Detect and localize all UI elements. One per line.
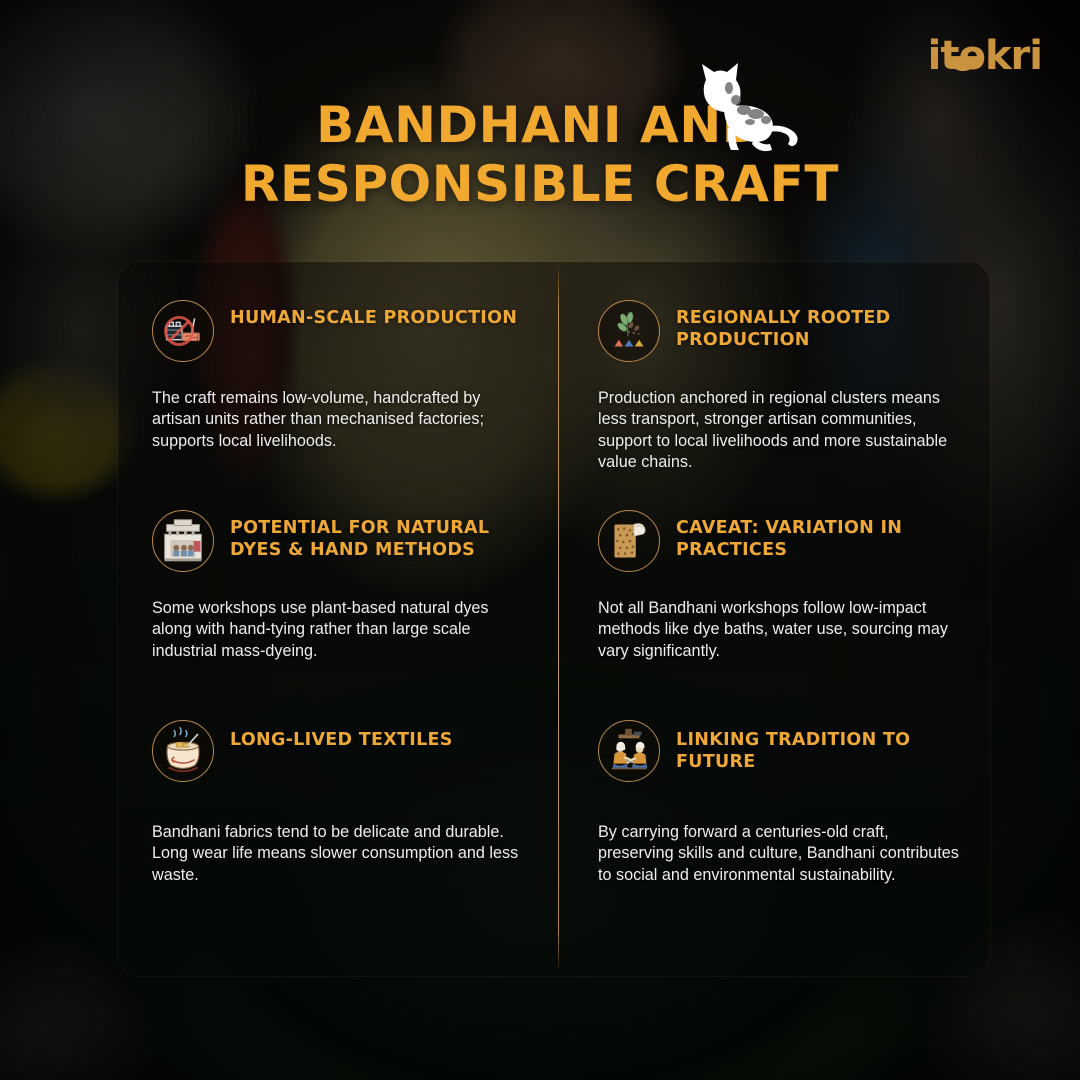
feature-description: The craft remains low-volume, handcrafte… xyxy=(152,388,524,452)
feature-description: Production anchored in regional clusters… xyxy=(598,388,966,474)
feature-header: CAVEAT: VARIATION IN PRACTICES xyxy=(598,510,966,572)
infographic-poster: itokri BANDHANI AND RESPONSIBLE CRAFT xyxy=(0,0,1080,1080)
white-cat-illustration-icon xyxy=(684,58,804,158)
hand-holding-bandhani-fabric-icon xyxy=(598,510,660,572)
plant-dye-pigments-icon xyxy=(598,300,660,362)
feature-title: LINKING TRADITION TO FUTURE xyxy=(676,720,966,774)
page-title: BANDHANI AND RESPONSIBLE CRAFT xyxy=(0,96,1080,213)
feature-header: POTENTIAL FOR NATURAL DYES & HAND METHOD… xyxy=(152,510,524,572)
feature-item-regionally-rooted-production: REGIONALLY ROOTED PRODUCTION Production … xyxy=(558,262,990,472)
feature-item-linking-tradition-to-future: LINKING TRADITION TO FUTURE By carrying … xyxy=(558,682,990,976)
feature-item-human-scale-production: HUMAN-SCALE PRODUCTION The craft remains… xyxy=(118,262,558,472)
feature-title: CAVEAT: VARIATION IN PRACTICES xyxy=(676,510,966,562)
steaming-dye-pot-icon xyxy=(152,720,214,782)
feature-title: POTENTIAL FOR NATURAL DYES & HAND METHOD… xyxy=(230,510,524,562)
itokri-basket-logo-icon: to xyxy=(940,36,985,76)
feature-item-long-lived-textiles: LONG-LIVED TEXTILES Bandhani fabrics ten… xyxy=(118,682,558,976)
no-factory-icon xyxy=(152,300,214,362)
feature-description: Some workshops use plant-based natural d… xyxy=(152,598,524,662)
feature-header: LONG-LIVED TEXTILES xyxy=(152,720,524,782)
craft-workshop-building-icon xyxy=(152,510,214,572)
feature-description: Not all Bandhani workshops follow low-im… xyxy=(598,598,966,662)
feature-item-natural-dyes-hand-methods: POTENTIAL FOR NATURAL DYES & HAND METHOD… xyxy=(118,472,558,682)
logo-letters-kri: kri xyxy=(985,33,1042,79)
feature-title: LONG-LIVED TEXTILES xyxy=(230,720,453,752)
brand-logo[interactable]: itokri xyxy=(928,36,1042,76)
feature-header: LINKING TRADITION TO FUTURE xyxy=(598,720,966,782)
two-artisans-working-icon xyxy=(598,720,660,782)
title-line-2: RESPONSIBLE CRAFT xyxy=(0,155,1080,214)
feature-header: HUMAN-SCALE PRODUCTION xyxy=(152,300,524,362)
feature-description: By carrying forward a centuries-old craf… xyxy=(598,822,966,886)
logo-letter-i: i xyxy=(928,33,941,79)
feature-title: HUMAN-SCALE PRODUCTION xyxy=(230,300,517,330)
title-line-1: BANDHANI AND xyxy=(0,96,1080,155)
feature-header: REGIONALLY ROOTED PRODUCTION xyxy=(598,300,966,362)
feature-grid: HUMAN-SCALE PRODUCTION The craft remains… xyxy=(118,262,990,976)
feature-title: REGIONALLY ROOTED PRODUCTION xyxy=(676,300,966,352)
feature-description: Bandhani fabrics tend to be delicate and… xyxy=(152,822,524,886)
content-card: HUMAN-SCALE PRODUCTION The craft remains… xyxy=(118,262,990,976)
feature-item-caveat-variation-in-practices: CAVEAT: VARIATION IN PRACTICES Not all B… xyxy=(558,472,990,682)
